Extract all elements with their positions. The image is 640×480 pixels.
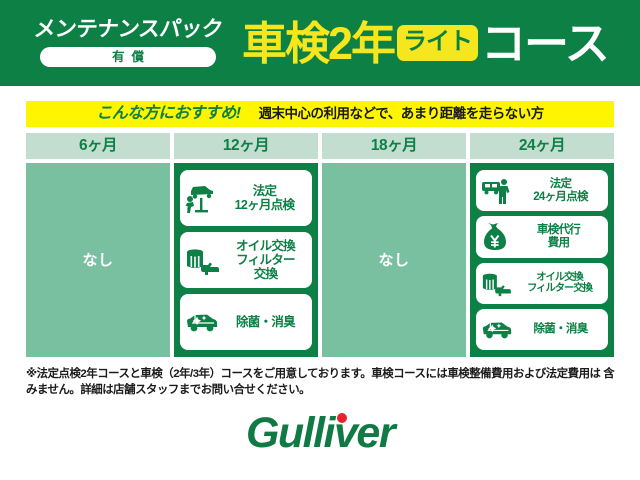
column-header-12months: 12ヶ月 [174,133,318,159]
gulliver-logo-dot-icon [337,413,347,423]
service-badge: 車検代行 費用 [476,216,608,257]
service-badge: オイル交換 フィルター 交換 [180,232,312,288]
headline-course-text: コース [481,21,608,66]
service-badge: 法定 24ヶ月点検 [476,170,608,211]
service-badge-text: 除菌・消臭 [223,315,308,329]
oil-filter-change-icon [480,269,512,297]
car-lift-inspection-icon [184,182,218,214]
column-body-6months: なし [26,163,170,357]
car-sanitize-icon [480,319,514,340]
table-column-24months: 24ヶ月 法定 24ヶ月点検 [470,133,614,357]
service-badge-text: 除菌・消臭 [517,323,604,336]
table-column-18months: 18ヶ月 なし [322,133,466,357]
car-sanitize-icon [184,311,220,333]
table-column-12months: 12ヶ月 法定 12ヶ月点検 [174,133,318,357]
oil-filter-change-icon [184,244,220,276]
service-badge-text: オイル交換 フィルター交換 [515,272,604,295]
recommendation-title: こんな方におすすめ! [96,106,240,122]
service-badge: 除菌・消臭 [180,294,312,350]
service-badge-text: 法定 12ヶ月点検 [221,184,308,212]
service-badge-text: オイル交換 フィルター 交換 [223,239,308,281]
service-schedule-table: 6ヶ月 なし 12ヶ月 [26,133,614,357]
service-badge-line1: オイル交換 [536,272,582,283]
money-bag-yen-icon [480,222,510,252]
column-body-24months: 法定 24ヶ月点検 車検代行 費用 [470,163,614,357]
recommendation-banner: こんな方におすすめ! 週末中心の利用などで、あまり距離を走らない方 [26,101,614,127]
service-badge: オイル交換 フィルター交換 [476,263,608,304]
brand-title: メンテナンスパック [32,19,223,41]
service-badge-line1: 車検代行 [537,224,580,236]
service-badge-line2: フィルター交換 [527,283,592,294]
column-header-24months: 24ヶ月 [470,133,614,159]
column-header-18months: 18ヶ月 [322,133,466,159]
footnote: ※法定点検2年コースと車検（2年/3年）コースをご用意しております。車検コースに… [26,366,618,398]
service-badge-line2: 12ヶ月点検 [235,198,295,212]
column-header-6months: 6ヶ月 [26,133,170,159]
service-badge-line1: 法定 [253,184,277,198]
service-badge-line1: オイル交換 [236,239,295,253]
service-badge-line1: 除菌・消臭 [534,323,588,335]
service-badge: 法定 12ヶ月点検 [180,170,312,226]
service-badge-line2: 24ヶ月点検 [533,191,588,203]
service-badge-line2: 費用 [548,237,570,249]
service-badge-line1: 法定 [550,178,572,190]
headline: 車検2年 ライト コース [242,21,608,66]
table-column-6months: 6ヶ月 なし [26,133,170,357]
service-badge-text: 車検代行 費用 [513,224,604,250]
footnote-line-1: ※法定点検2年コースと車検（2年/3年）コースをご用意しております。車検コースに… [26,368,601,380]
recommendation-subtitle: 週末中心の利用などで、あまり距離を走らない方 [259,107,544,121]
car-inspection-agent-icon [480,177,514,205]
column-body-18months: なし [322,163,466,357]
service-badge-line1: 除菌・消臭 [236,315,295,329]
brand-logo-area: Gulliver [0,412,640,455]
headline-main-text: 車検2年 [242,21,394,66]
service-badge-line3: 交換 [254,267,278,281]
page-header-bar: メンテナンスパック 有償 車検2年 ライト コース [0,0,640,86]
none-label-6months: なし [82,253,113,268]
none-label-18months: なし [378,253,409,268]
headline-light-badge: ライト [397,25,478,61]
service-badge-text: 法定 24ヶ月点検 [517,178,604,204]
paid-badge: 有償 [40,47,216,67]
service-badge: 除菌・消臭 [476,309,608,350]
column-body-12months: 法定 12ヶ月点検 オイル交換 [174,163,318,357]
brand-block: メンテナンスパック 有償 [20,19,236,68]
gulliver-logo-text: Gulliver [246,409,394,457]
service-badge-line2: フィルター [236,253,295,267]
gulliver-logo: Gulliver [246,412,394,455]
